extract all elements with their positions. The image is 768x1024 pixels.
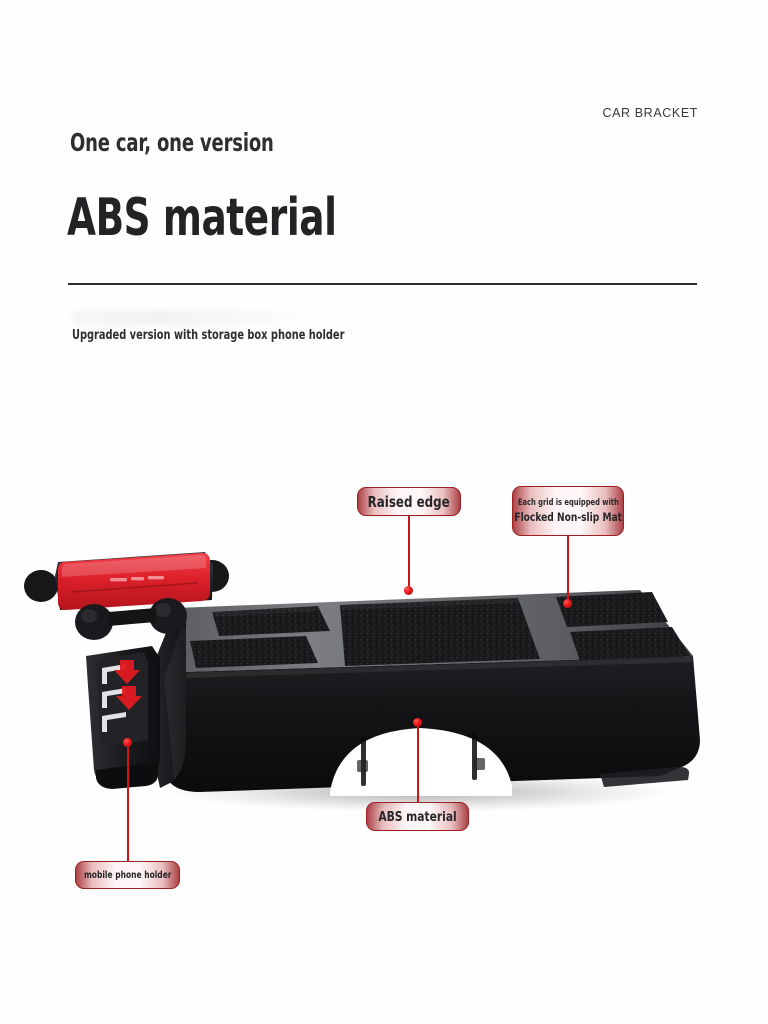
- callout-flocked-mat-line-1: Each grid is equipped with: [518, 498, 619, 508]
- leader-line-flocked-mat: [567, 536, 569, 605]
- header-divider: [68, 283, 697, 285]
- leader-dot-phone-holder: [123, 738, 132, 747]
- leader-line-raised-edge: [408, 516, 410, 592]
- callout-phone-holder-label: mobile phone holder: [84, 870, 172, 881]
- callout-raised-edge: Raised edge: [357, 487, 461, 516]
- leader-dot-raised-edge: [404, 586, 413, 595]
- callout-raised-edge-label: Raised edge: [368, 493, 450, 511]
- brand-label: CAR BRACKET: [602, 106, 698, 120]
- callout-flocked-mat: Each grid is equipped with Flocked Non-s…: [512, 486, 624, 536]
- ghost-watermark: [72, 310, 322, 326]
- leader-line-phone-holder: [127, 742, 129, 862]
- leader-dot-abs-material: [413, 718, 422, 727]
- infographic-page: CAR BRACKET One car, one version ABS mat…: [0, 0, 768, 1024]
- page-title: ABS material: [67, 188, 337, 248]
- callout-phone-holder: mobile phone holder: [75, 861, 180, 889]
- subtitle-text: Upgraded version with storage box phone …: [72, 328, 344, 343]
- kicker-text: One car, one version: [70, 128, 274, 157]
- leader-line-abs-material: [417, 722, 419, 803]
- callout-abs-material-label: ABS material: [378, 809, 456, 825]
- callout-flocked-mat-line-2: Flocked Non-slip Mat: [514, 510, 622, 524]
- leader-dot-flocked-mat: [563, 599, 572, 608]
- callout-abs-material: ABS material: [366, 802, 469, 831]
